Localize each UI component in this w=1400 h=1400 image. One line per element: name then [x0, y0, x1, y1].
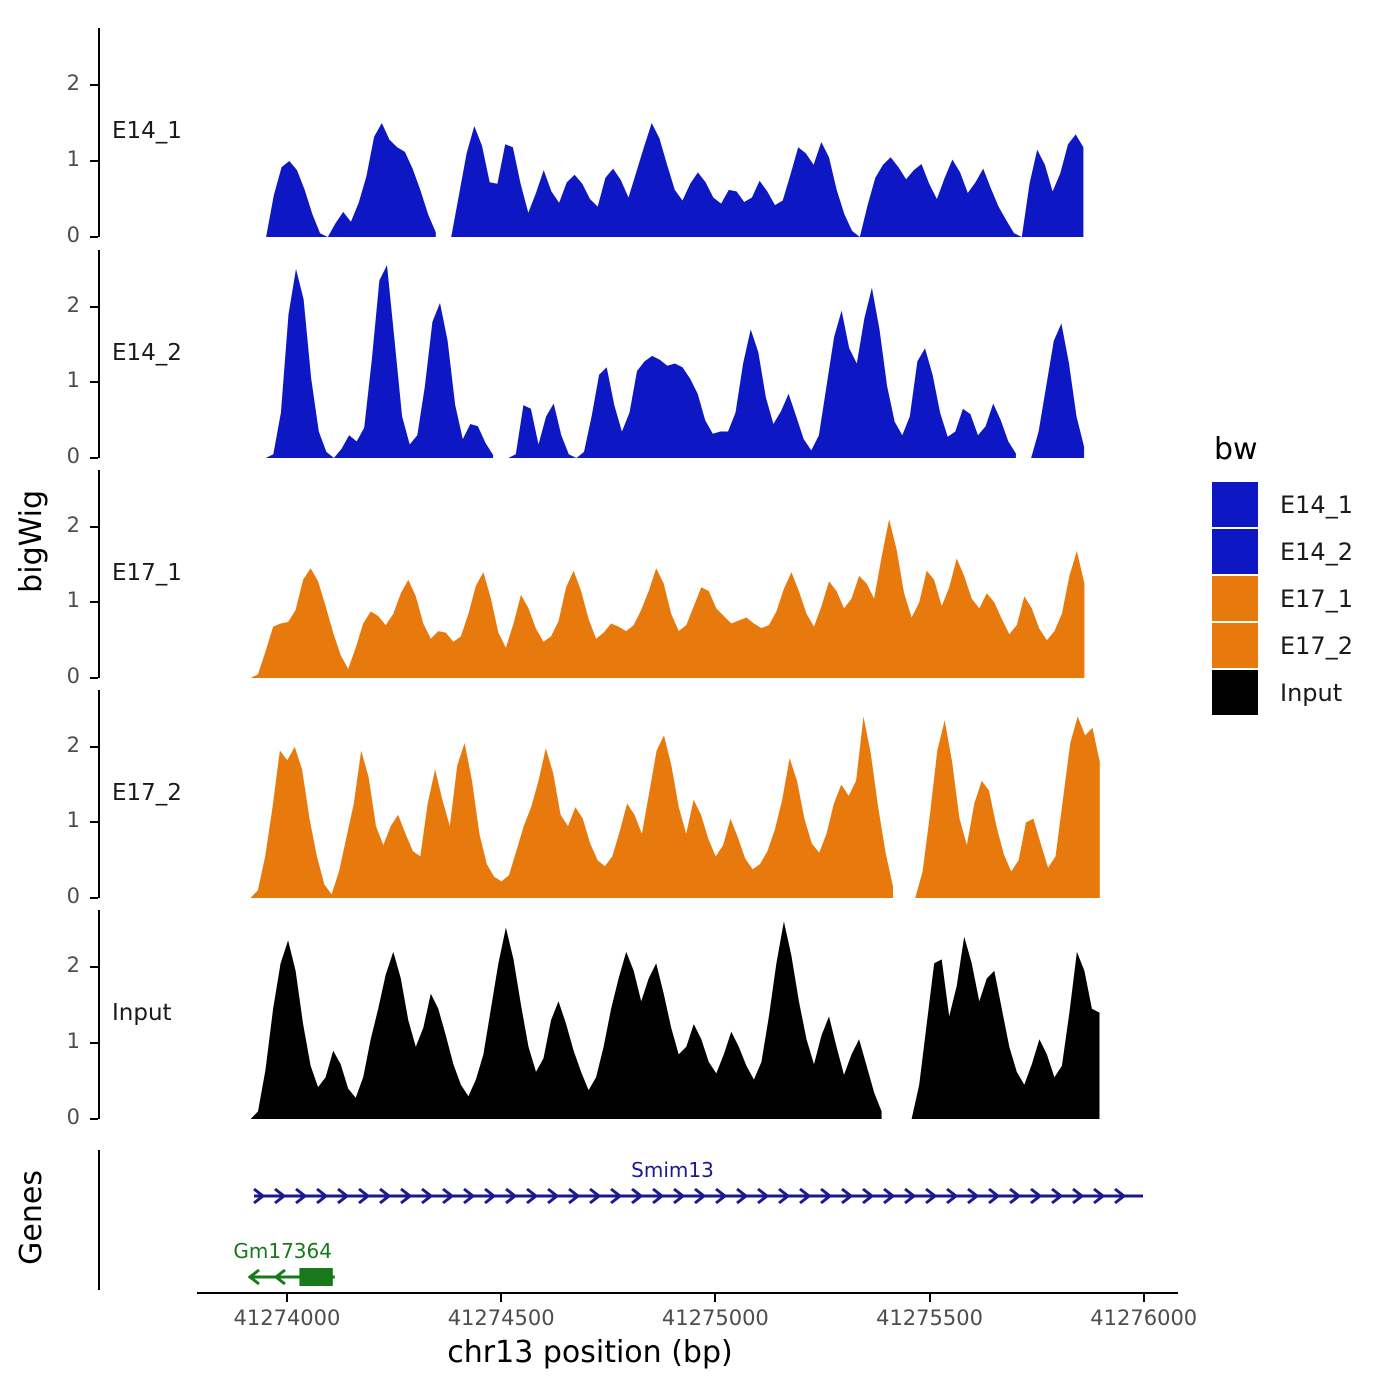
legend-item-e14_2[interactable]: E14_2	[1212, 528, 1353, 575]
x-tick-label: 41274500	[448, 1306, 555, 1330]
legend-label: E17_2	[1280, 632, 1353, 660]
x-tick-mark	[500, 1294, 502, 1302]
genes-axis-spine	[98, 1150, 100, 1290]
gene-gm17364[interactable]	[248, 1264, 336, 1290]
legend-swatch-e14_2	[1212, 529, 1258, 574]
x-tick-mark	[929, 1294, 931, 1302]
x-tick-label: 41276000	[1090, 1306, 1197, 1330]
legend-swatch-input	[1212, 670, 1258, 715]
gene-smim13[interactable]	[253, 1183, 1144, 1209]
legend-item-input[interactable]: Input	[1212, 669, 1353, 716]
legend-item-e17_1[interactable]: E17_1	[1212, 575, 1353, 622]
legend-swatch-e17_1	[1212, 576, 1258, 621]
legend-swatch-e14_1	[1212, 482, 1258, 527]
x-tick-mark	[1143, 1294, 1145, 1302]
legend: bw E14_1E14_2E17_1E17_2Input	[1212, 432, 1353, 716]
legend-title: bw	[1214, 432, 1353, 467]
legend-label: Input	[1280, 679, 1342, 707]
genome-browser-figure: bigWig Genes chr13 position (bp) 012E14_…	[0, 0, 1400, 1400]
legend-item-e17_2[interactable]: E17_2	[1212, 622, 1353, 669]
x-tick-label: 41275000	[662, 1306, 769, 1330]
legend-item-e14_1[interactable]: E14_1	[1212, 481, 1353, 528]
legend-label: E17_1	[1280, 585, 1353, 613]
x-tick-label: 41275500	[876, 1306, 983, 1330]
legend-swatch-e17_2	[1212, 623, 1258, 668]
genes-panel: Smim13Gm17364	[0, 0, 1400, 1400]
gene-label-smim13: Smim13	[631, 1158, 714, 1182]
x-tick-mark	[714, 1294, 716, 1302]
x-axis-spine	[197, 1292, 1178, 1294]
x-tick-label: 41274000	[234, 1306, 341, 1330]
legend-label: E14_1	[1280, 491, 1353, 519]
x-tick-mark	[286, 1294, 288, 1302]
legend-label: E14_2	[1280, 538, 1353, 566]
gene-label-gm17364: Gm17364	[233, 1239, 332, 1263]
